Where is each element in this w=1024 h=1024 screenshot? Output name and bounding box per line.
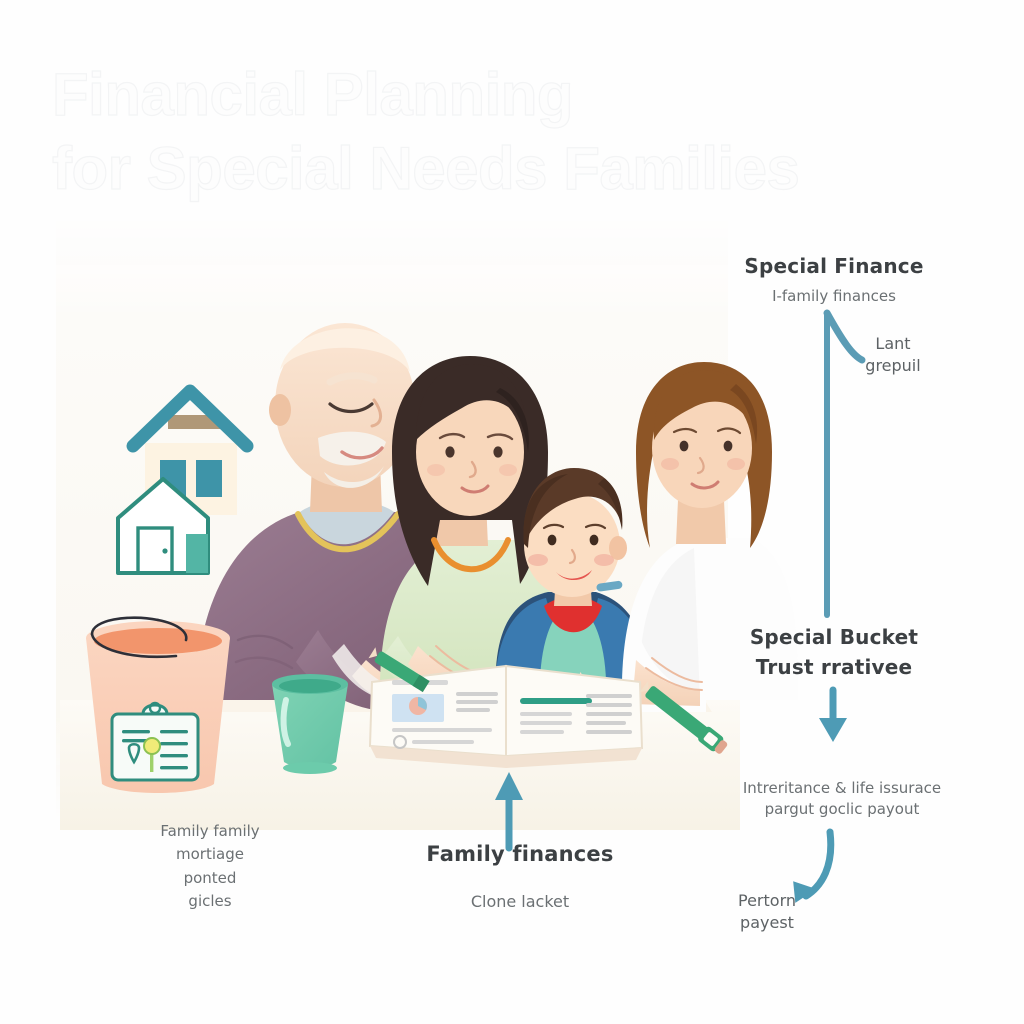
annotation-special-bucket: Special Bucket Trust rrativee [716,624,952,681]
annotation-lant-grepuil-line-1: Lant [838,333,948,355]
annotation-family-finances-heading: Family finances [382,840,658,869]
annotation-special-finance-heading: Special Finance [716,253,952,281]
annotation-inheritance: Intreritance & life issurace pargut gocl… [716,778,968,819]
arrow-down-icon [819,690,847,742]
annotation-family-mortgage-line-1: Family family [82,820,338,843]
annotation-lant-grepuil-line-2: grepuil [838,355,948,377]
annotation-pertorn: Pertorn payest [712,890,822,934]
annotation-special-bucket-line-2: Trust rrativee [716,654,952,682]
annotation-family-finances: Family finances Clone lacket [382,840,658,913]
annotation-lant-grepuil: Lant grepuil [838,333,948,377]
annotation-family-mortgage: Family family mortiage ponted gicles [82,820,338,913]
annotation-inheritance-line-1: Intreritance & life issurace [716,778,968,799]
annotation-special-finance-sub: I-family finances [716,286,952,307]
annotation-pertorn-line-1: Pertorn [712,890,822,912]
annotation-family-finances-sub: Clone lacket [382,891,658,913]
annotation-family-mortgage-line-4: gicles [82,890,338,913]
poster-canvas: Financial Planning for Special Needs Fam… [0,0,1024,1024]
annotation-pertorn-line-2: payest [712,912,822,934]
annotation-inheritance-line-2: pargut goclic payout [716,799,968,820]
annotation-family-mortgage-line-3: ponted [82,867,338,890]
annotation-special-finance: Special Finance I-family finances [716,253,952,306]
annotation-special-bucket-line-1: Special Bucket [716,624,952,652]
annotation-family-mortgage-line-2: mortiage [82,843,338,866]
arrow-up-icon [495,772,523,848]
